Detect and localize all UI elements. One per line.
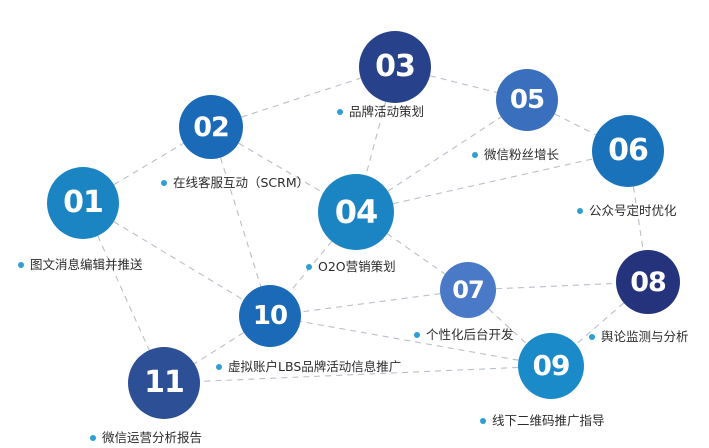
edge-04-07 bbox=[387, 234, 445, 274]
node-number-03: 03 bbox=[375, 52, 415, 82]
node-number-04: 04 bbox=[335, 196, 378, 228]
bullet-dot-icon bbox=[216, 364, 222, 370]
node-circle-01[interactable]: 01 bbox=[47, 167, 119, 239]
node-label-06: 公众号定时优化 bbox=[577, 205, 677, 218]
node-number-07: 07 bbox=[452, 278, 483, 302]
node-label-text-05: 微信粉丝增长 bbox=[484, 149, 559, 162]
node-label-04: O2O营销策划 bbox=[306, 261, 396, 274]
edge-07-08 bbox=[496, 283, 616, 288]
bullet-dot-icon bbox=[161, 180, 167, 186]
node-number-02: 02 bbox=[193, 114, 229, 141]
node-circle-10[interactable]: 10 bbox=[239, 285, 301, 347]
node-circle-02[interactable]: 02 bbox=[179, 95, 243, 159]
node-circle-03[interactable]: 03 bbox=[359, 31, 431, 103]
node-circle-04[interactable]: 04 bbox=[318, 174, 394, 250]
bullet-dot-icon bbox=[18, 262, 24, 268]
bullet-dot-icon bbox=[306, 264, 312, 270]
bullet-dot-icon bbox=[472, 152, 478, 158]
node-circle-09[interactable]: 09 bbox=[518, 333, 584, 399]
node-label-05: 微信粉丝增长 bbox=[472, 149, 559, 162]
node-label-text-02: 在线客服互动（SCRM） bbox=[173, 177, 309, 190]
node-number-11: 11 bbox=[144, 368, 184, 398]
node-circle-07[interactable]: 07 bbox=[440, 262, 496, 318]
node-label-text-11: 微信运营分析报告 bbox=[102, 432, 202, 445]
node-label-07: 个性化后台开发 bbox=[414, 329, 514, 342]
edge-03-05 bbox=[430, 76, 497, 93]
node-number-06: 06 bbox=[608, 136, 648, 166]
node-label-text-07: 个性化后台开发 bbox=[426, 329, 514, 342]
node-label-11: 微信运营分析报告 bbox=[90, 432, 202, 445]
node-circle-11[interactable]: 11 bbox=[128, 347, 200, 419]
node-label-09: 线下二维码推广指导 bbox=[480, 415, 605, 428]
edge-06-08 bbox=[633, 187, 643, 251]
node-circle-08[interactable]: 08 bbox=[616, 250, 680, 314]
node-circle-06[interactable]: 06 bbox=[592, 115, 664, 187]
node-label-text-04: O2O营销策划 bbox=[318, 261, 396, 274]
node-circle-05[interactable]: 05 bbox=[496, 69, 558, 131]
node-number-01: 01 bbox=[63, 188, 103, 218]
node-label-10: 虚拟账户LBS品牌活动信息推广 bbox=[216, 361, 401, 374]
node-label-08: 舆论监测与分析 bbox=[589, 331, 689, 344]
bullet-dot-icon bbox=[337, 109, 343, 115]
node-number-10: 10 bbox=[253, 303, 287, 329]
edge-05-06 bbox=[555, 114, 596, 135]
edge-01-11 bbox=[98, 236, 149, 350]
node-label-01: 图文消息编辑并推送 bbox=[18, 259, 143, 272]
node-number-08: 08 bbox=[630, 269, 666, 296]
node-label-text-10: 虚拟账户LBS品牌活动信息推广 bbox=[228, 361, 401, 374]
bullet-dot-icon bbox=[577, 208, 583, 214]
edge-07-10 bbox=[301, 294, 441, 312]
node-label-03: 品牌活动策划 bbox=[337, 106, 424, 119]
node-label-text-08: 舆论监测与分析 bbox=[601, 331, 689, 344]
bullet-dot-icon bbox=[414, 332, 420, 338]
bullet-dot-icon bbox=[480, 418, 486, 424]
node-label-text-06: 公众号定时优化 bbox=[589, 205, 677, 218]
infographic-canvas: 0102030405060708091011 图文消息编辑并推送在线客服互动（S… bbox=[0, 0, 709, 448]
node-label-text-09: 线下二维码推广指导 bbox=[492, 415, 605, 428]
node-number-05: 05 bbox=[510, 87, 544, 113]
edge-04-06 bbox=[393, 159, 593, 204]
bullet-dot-icon bbox=[589, 334, 595, 340]
node-label-text-01: 图文消息编辑并推送 bbox=[30, 259, 143, 272]
node-number-09: 09 bbox=[533, 352, 570, 380]
node-label-02: 在线客服互动（SCRM） bbox=[161, 177, 309, 190]
node-label-text-03: 品牌活动策划 bbox=[349, 106, 424, 119]
bullet-dot-icon bbox=[90, 435, 96, 441]
